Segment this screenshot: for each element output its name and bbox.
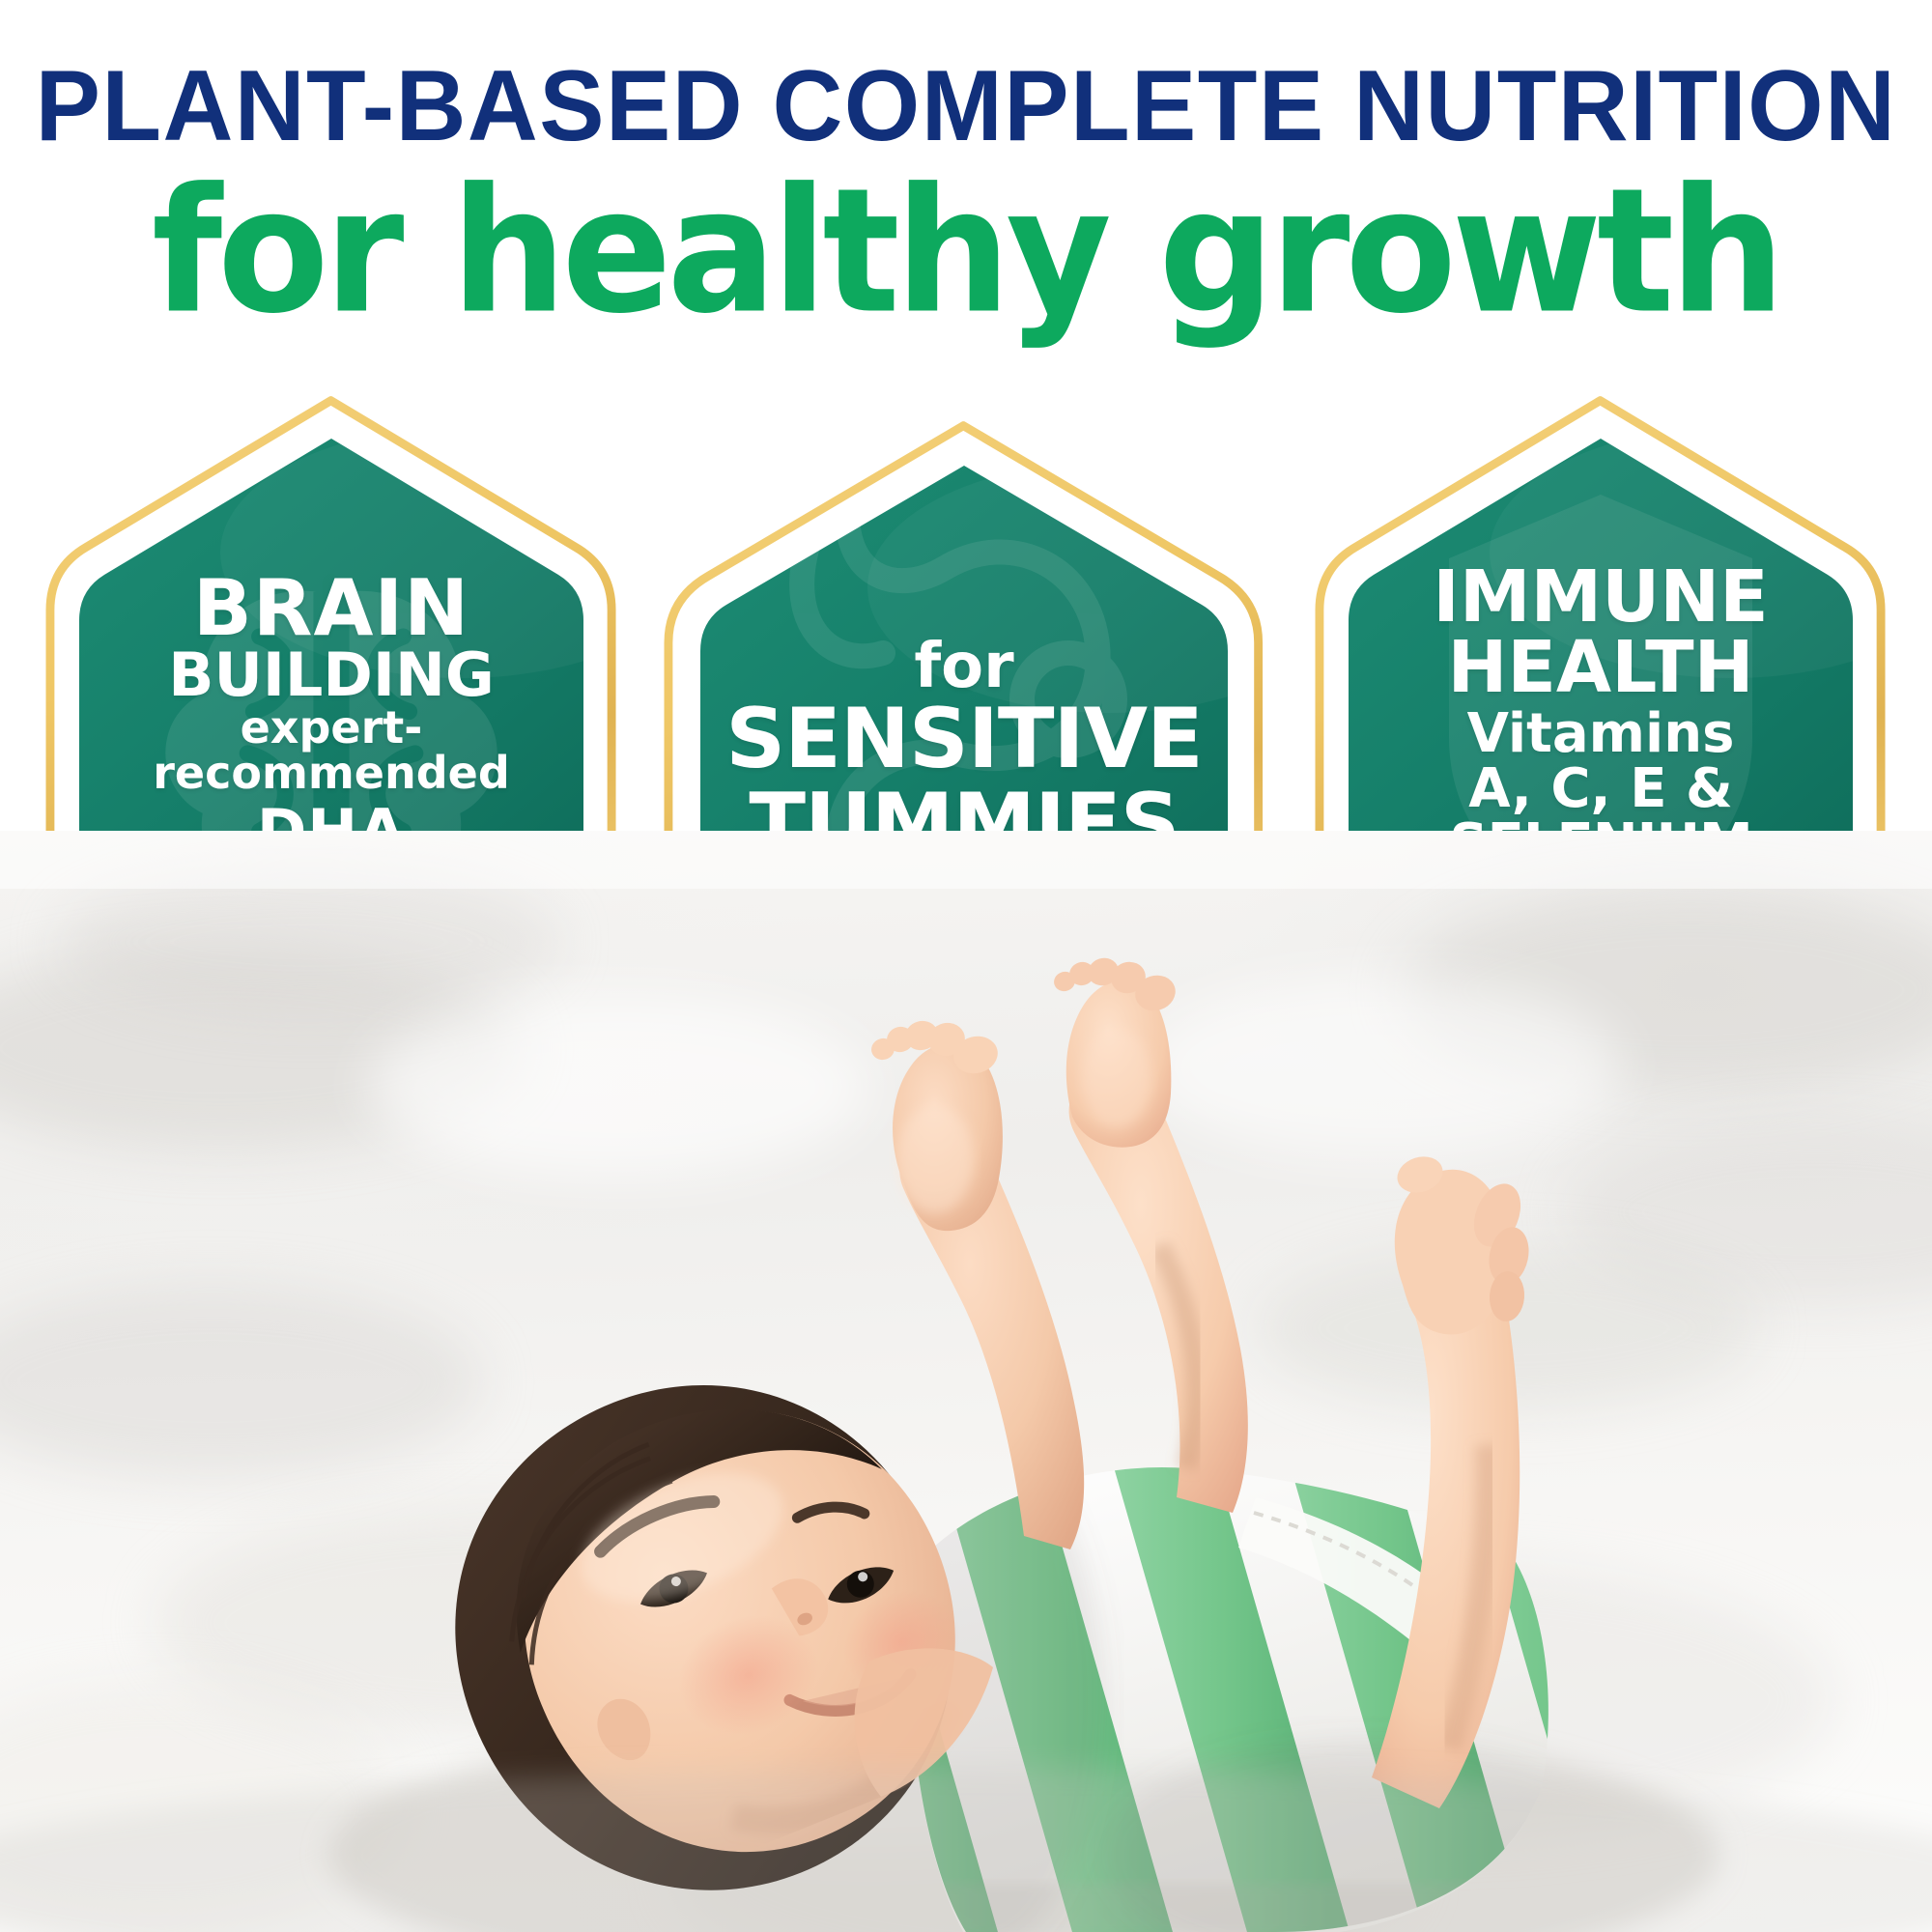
baby-lifestyle-photo <box>0 831 1932 1932</box>
page-title-line-1: PLANT-BASED COMPLETE NUTRITION <box>29 0 1903 156</box>
headline-block: PLANT-BASED COMPLETE NUTRITION for healt… <box>0 0 1932 332</box>
promo-canvas: PLANT-BASED COMPLETE NUTRITION for healt… <box>0 0 1932 1932</box>
baby-hand <box>1393 1151 1534 1334</box>
page-title-line-2: for healthy growth <box>0 165 1932 337</box>
baby-figure <box>0 831 1932 1932</box>
